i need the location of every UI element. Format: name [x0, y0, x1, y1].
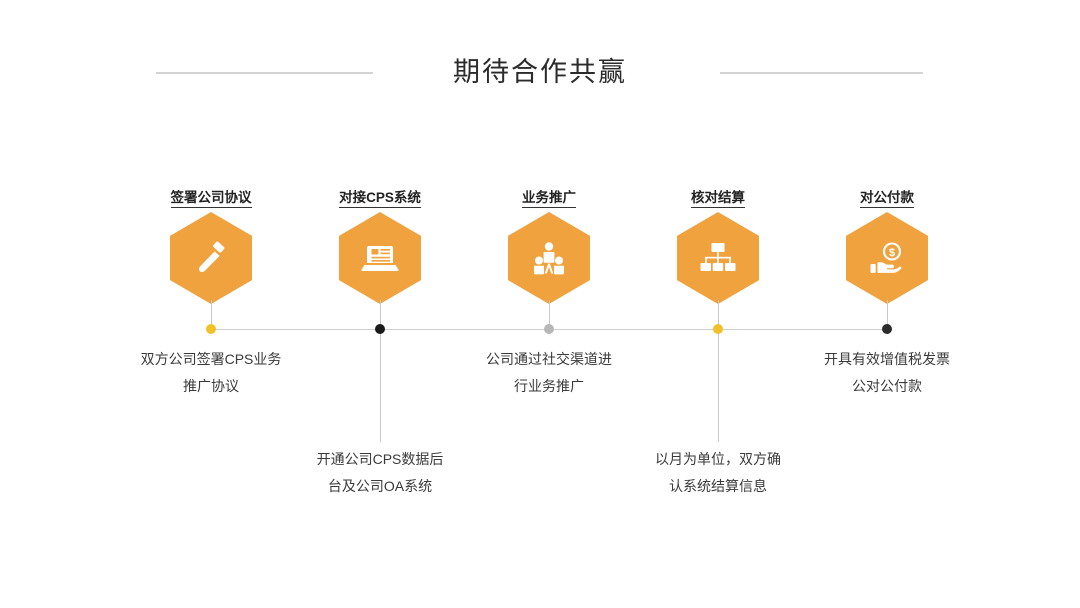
- node-description-5: 开具有效增值税发票 公对公付款: [772, 346, 1002, 400]
- node-drop-line-2: [380, 330, 381, 442]
- hexagon-shape: [677, 212, 759, 304]
- node-label-5: 对公付款: [777, 186, 997, 206]
- node-drop-line-4: [718, 330, 719, 442]
- laptop-icon: [361, 241, 399, 275]
- node-hexagon-5[interactable]: $: [846, 212, 928, 304]
- node-hexagon-4[interactable]: [677, 212, 759, 304]
- title-row: 期待合作共赢: [0, 52, 1080, 96]
- timeline-dot-2[interactable]: [375, 324, 385, 334]
- svg-text:$: $: [889, 247, 895, 259]
- pen-icon: [193, 240, 229, 276]
- timeline-dot-1[interactable]: [206, 324, 216, 334]
- timeline-dot-4[interactable]: [713, 324, 723, 334]
- node-description-2: 开通公司CPS数据后 台及公司OA系统: [265, 446, 495, 500]
- slide-canvas: 期待合作共赢 签署公司协议 双方公司签署CPS业务 推广协议: [0, 0, 1080, 608]
- people-group-icon: [531, 240, 567, 276]
- node-hexagon-2[interactable]: [339, 212, 421, 304]
- hand-coin-icon: $: [868, 241, 906, 275]
- org-chart-icon: [699, 242, 737, 274]
- node-description-3: 公司通过社交渠道进 行业务推广: [434, 346, 664, 400]
- timeline-dot-5[interactable]: [882, 324, 892, 334]
- hexagon-shape: [339, 212, 421, 304]
- node-hexagon-1[interactable]: [170, 212, 252, 304]
- timeline-dot-3[interactable]: [544, 324, 554, 334]
- hexagon-shape: [170, 212, 252, 304]
- node-description-1: 双方公司签署CPS业务 推广协议: [96, 346, 326, 400]
- hexagon-shape: [508, 212, 590, 304]
- hexagon-shape: $: [846, 212, 928, 304]
- node-hexagon-3[interactable]: [508, 212, 590, 304]
- node-description-4: 以月为单位，双方确 认系统结算信息: [603, 446, 833, 500]
- title-rule-right: [720, 72, 923, 74]
